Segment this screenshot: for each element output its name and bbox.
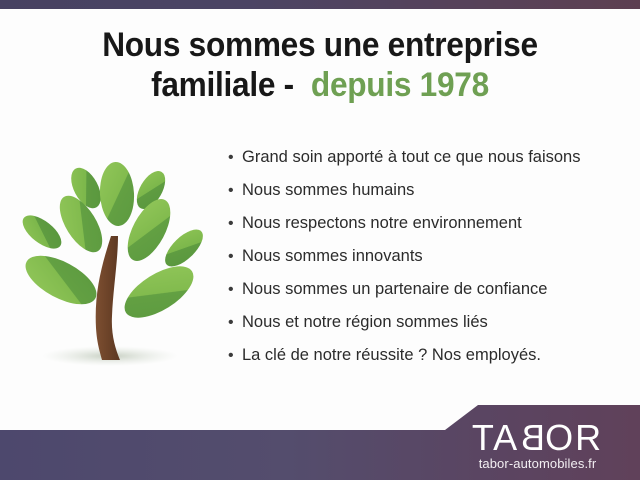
- list-item: • Nous sommes innovants: [228, 247, 628, 280]
- tree-leaf: [116, 256, 201, 328]
- list-item-label: Nous sommes humains: [242, 181, 414, 200]
- bullet-dot-icon: •: [228, 249, 242, 265]
- list-item: • Grand soin apporté à tout ce que nous …: [228, 148, 628, 181]
- headline-line-1: Nous sommes une entreprise: [22, 25, 617, 65]
- list-item: • Nous et notre région sommes liés: [228, 313, 628, 346]
- list-item-label: Nous respectons notre environnement: [242, 214, 522, 233]
- list-item: • Nous sommes humains: [228, 181, 628, 214]
- footer-bar: TABOR tabor-automobiles.fr: [0, 405, 640, 480]
- tree-leaf: [98, 161, 135, 227]
- list-item-label: Nous sommes un partenaire de confiance: [242, 280, 547, 299]
- bullet-dot-icon: •: [228, 315, 242, 331]
- tree-trunk: [96, 236, 120, 360]
- brand-logo[interactable]: TABOR tabor-automobiles.fr: [445, 421, 630, 472]
- list-item-label: Nous et notre région sommes liés: [242, 313, 488, 332]
- tree-illustration: [14, 152, 214, 387]
- brand-logo-part-1: TA: [472, 417, 519, 458]
- list-item-label: Nous sommes innovants: [242, 247, 423, 266]
- bullet-dot-icon: •: [228, 282, 242, 298]
- brand-logo-wordmark: TABOR: [445, 421, 630, 455]
- headline-line-2-accent: depuis 1978: [311, 66, 489, 104]
- brand-logo-url[interactable]: tabor-automobiles.fr: [445, 456, 630, 472]
- bullet-dot-icon: •: [228, 348, 242, 364]
- list-item: • La clé de notre réussite ? Nos employé…: [228, 346, 628, 379]
- bullet-dot-icon: •: [228, 150, 242, 166]
- list-item-label: La clé de notre réussite ? Nos employés.: [242, 346, 541, 365]
- headline-space: [294, 66, 311, 104]
- headline-line-2-plain: familiale -: [151, 66, 294, 104]
- slide-root: Nous sommes une entreprise familiale - d…: [0, 0, 640, 480]
- tree-leaf: [17, 209, 67, 255]
- top-accent-bar: [0, 0, 640, 9]
- benefits-list: • Grand soin apporté à tout ce que nous …: [228, 148, 628, 379]
- list-item-label: Grand soin apporté à tout ce que nous fa…: [242, 148, 580, 167]
- brand-logo-part-3: OR: [545, 417, 603, 458]
- list-item: • Nous sommes un partenaire de confiance: [228, 280, 628, 313]
- headline-line-2: familiale - depuis 1978: [22, 65, 617, 105]
- page-title: Nous sommes une entreprise familiale - d…: [0, 25, 640, 105]
- list-item: • Nous respectons notre environnement: [228, 214, 628, 247]
- bullet-dot-icon: •: [228, 183, 242, 199]
- bullet-dot-icon: •: [228, 216, 242, 232]
- tree-leaf: [159, 223, 209, 272]
- tree-leaf: [18, 246, 104, 314]
- brand-logo-part-2: B: [519, 421, 545, 455]
